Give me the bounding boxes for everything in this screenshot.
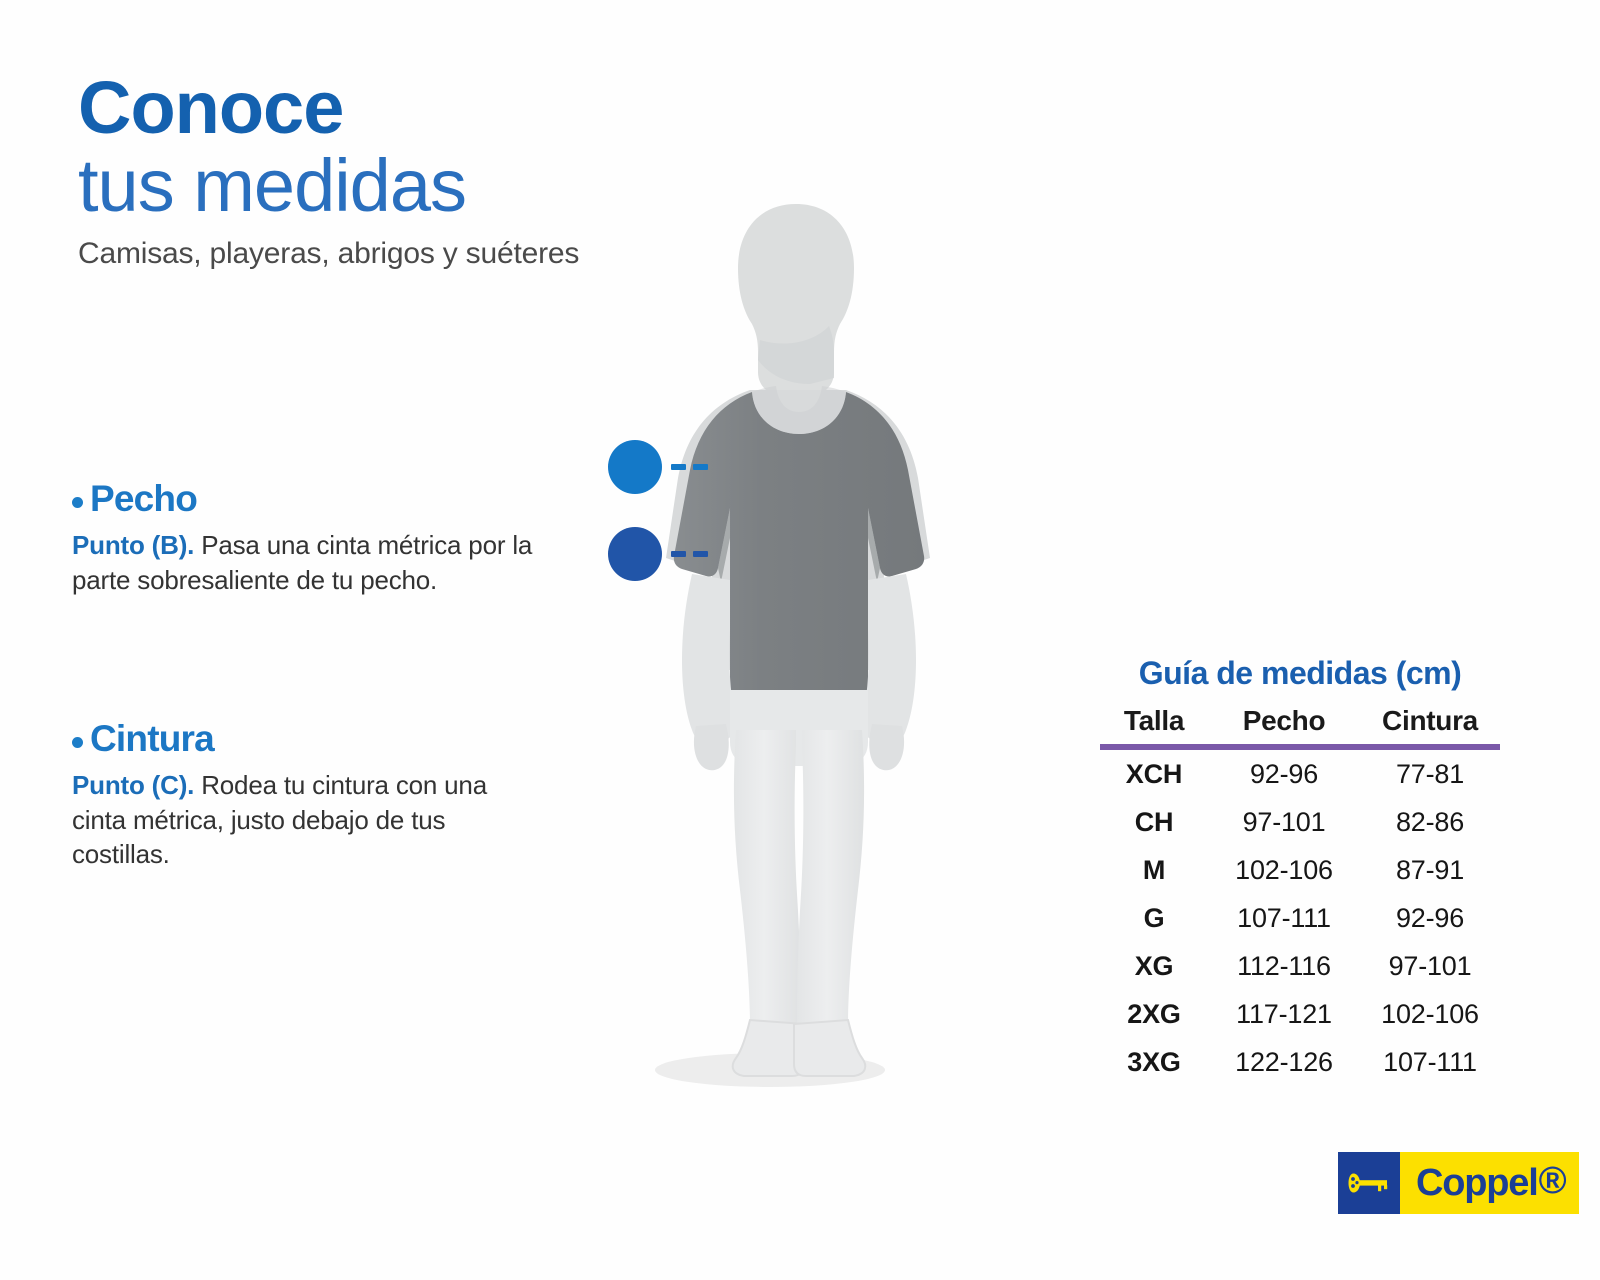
hand-left [694, 724, 729, 770]
waist-point-label: Punto (C). [72, 770, 194, 800]
foot-right [794, 1020, 865, 1076]
cell-cintura: 87-91 [1360, 846, 1500, 894]
cell-talla: G [1100, 894, 1208, 942]
header: Conoce tus medidas Camisas, playeras, ab… [78, 72, 579, 271]
cell-pecho: 102-106 [1208, 846, 1360, 894]
table-row: XG 112-116 97-101 [1100, 942, 1500, 990]
measurement-info-chest: Pecho Punto (B). Pasa una cinta métrica … [72, 478, 542, 597]
cell-talla: CH [1100, 798, 1208, 846]
leg-right [797, 730, 864, 1044]
size-guide-table: Talla Pecho Cintura XCH 92-96 77-81 CH 9… [1100, 705, 1500, 1086]
cell-pecho: 107-111 [1208, 894, 1360, 942]
logo-trademark: ® [1539, 1160, 1566, 1203]
waist-marker [608, 527, 708, 581]
chest-heading-label: Pecho [90, 478, 197, 520]
cell-cintura: 92-96 [1360, 894, 1500, 942]
page-title-line2: tus medidas [78, 149, 579, 223]
column-header-talla: Talla [1100, 705, 1208, 744]
dash-segment [693, 464, 708, 470]
waist-marker-dot [608, 527, 662, 581]
cell-cintura: 97-101 [1360, 942, 1500, 990]
cell-pecho: 112-116 [1208, 942, 1360, 990]
cell-cintura: 77-81 [1360, 750, 1500, 798]
cell-cintura: 102-106 [1360, 990, 1500, 1038]
chest-heading: Pecho [72, 478, 542, 520]
cell-talla: 2XG [1100, 990, 1208, 1038]
chest-marker [608, 440, 708, 494]
cell-pecho: 117-121 [1208, 990, 1360, 1038]
cell-pecho: 122-126 [1208, 1038, 1360, 1086]
arm-left [682, 574, 736, 744]
logo-wordmark-plate: Coppel ® [1400, 1152, 1579, 1214]
leg-left [734, 730, 801, 1044]
hand-right [869, 724, 904, 770]
cell-talla: XG [1100, 942, 1208, 990]
page-title-line1: Conoce [78, 72, 579, 145]
mannequin-illustration [600, 190, 1040, 1120]
bullet-icon [72, 737, 83, 748]
chest-marker-dot [608, 440, 662, 494]
table-row: G 107-111 92-96 [1100, 894, 1500, 942]
column-header-pecho: Pecho [1208, 705, 1360, 744]
cell-pecho: 97-101 [1208, 798, 1360, 846]
size-guide-table-container: Guía de medidas (cm) Talla Pecho Cintura… [1100, 655, 1500, 1086]
dash-segment [693, 551, 708, 557]
column-header-cintura: Cintura [1360, 705, 1500, 744]
table-row: CH 97-101 82-86 [1100, 798, 1500, 846]
arm-right [862, 574, 916, 744]
logo-wordmark: Coppel [1416, 1162, 1538, 1205]
waist-heading-label: Cintura [90, 718, 214, 760]
dash-segment [671, 464, 686, 470]
table-body: XCH 92-96 77-81 CH 97-101 82-86 M 102-10… [1100, 750, 1500, 1086]
waist-marker-dashes [671, 551, 708, 557]
infographic-canvas: Conoce tus medidas Camisas, playeras, ab… [0, 0, 1600, 1280]
cell-talla: M [1100, 846, 1208, 894]
chest-description: Punto (B). Pasa una cinta métrica por la… [72, 528, 542, 597]
cell-cintura: 82-86 [1360, 798, 1500, 846]
waist-heading: Cintura [72, 718, 542, 760]
table-row: 2XG 117-121 102-106 [1100, 990, 1500, 1038]
table-row: XCH 92-96 77-81 [1100, 750, 1500, 798]
coppel-logo: Coppel ® [1338, 1152, 1579, 1214]
waist-description: Punto (C). Rodea tu cintura con una cint… [72, 768, 542, 872]
cell-pecho: 92-96 [1208, 750, 1360, 798]
size-guide-title: Guía de medidas (cm) [1100, 655, 1500, 692]
mannequin-figure [600, 190, 1040, 1120]
key-icon [1348, 1170, 1390, 1196]
cell-talla: 3XG [1100, 1038, 1208, 1086]
table-row: 3XG 122-126 107-111 [1100, 1038, 1500, 1086]
measurement-info-waist: Cintura Punto (C). Rodea tu cintura con … [72, 718, 542, 872]
chest-point-label: Punto (B). [72, 530, 194, 560]
dash-segment [671, 551, 686, 557]
table-row: M 102-106 87-91 [1100, 846, 1500, 894]
table-header-row: Talla Pecho Cintura [1100, 705, 1500, 744]
bullet-icon [72, 497, 83, 508]
logo-key-badge [1338, 1152, 1400, 1214]
page-subtitle: Camisas, playeras, abrigos y suéteres [78, 237, 579, 271]
cell-talla: XCH [1100, 750, 1208, 798]
chest-marker-dashes [671, 464, 708, 470]
cell-cintura: 107-111 [1360, 1038, 1500, 1086]
